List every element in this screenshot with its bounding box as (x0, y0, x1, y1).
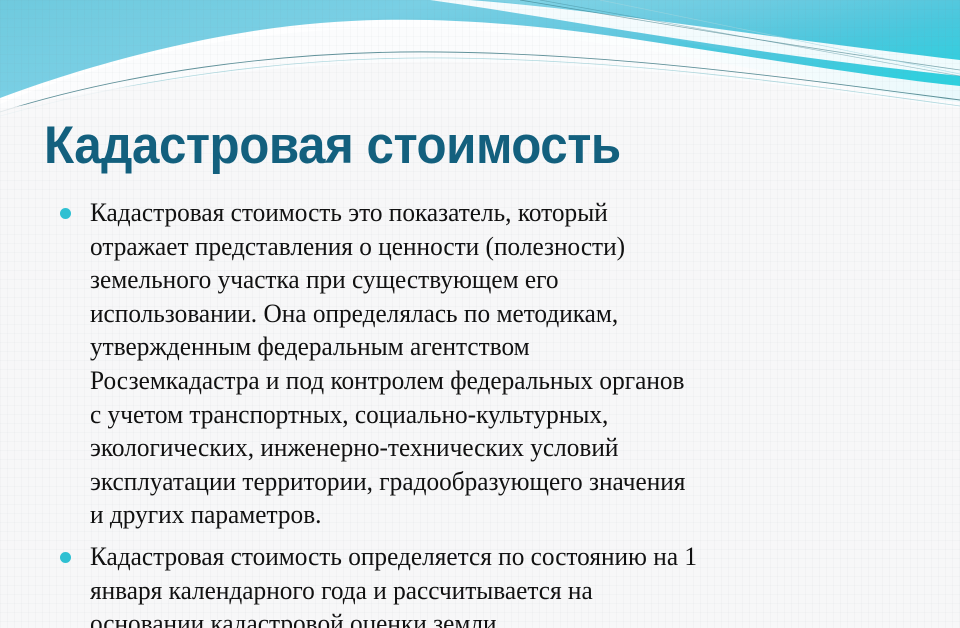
header-decorative-banner (0, 0, 960, 118)
list-item-text: Кадастровая стоимость определяется по со… (90, 540, 907, 628)
bullet-dot-icon (60, 208, 71, 219)
bullet-list: Кадастровая стоимость это показатель, ко… (56, 196, 946, 628)
page-title: Кадастровая стоимость (44, 116, 621, 176)
bullet-dot-icon (60, 552, 71, 563)
list-item: Кадастровая стоимость определяется по со… (56, 540, 946, 628)
list-item: Кадастровая стоимость это показатель, ко… (56, 196, 946, 532)
slide: Кадастровая стоимость Кадастровая стоимо… (0, 0, 960, 628)
list-item-text: Кадастровая стоимость это показатель, ко… (90, 196, 907, 532)
